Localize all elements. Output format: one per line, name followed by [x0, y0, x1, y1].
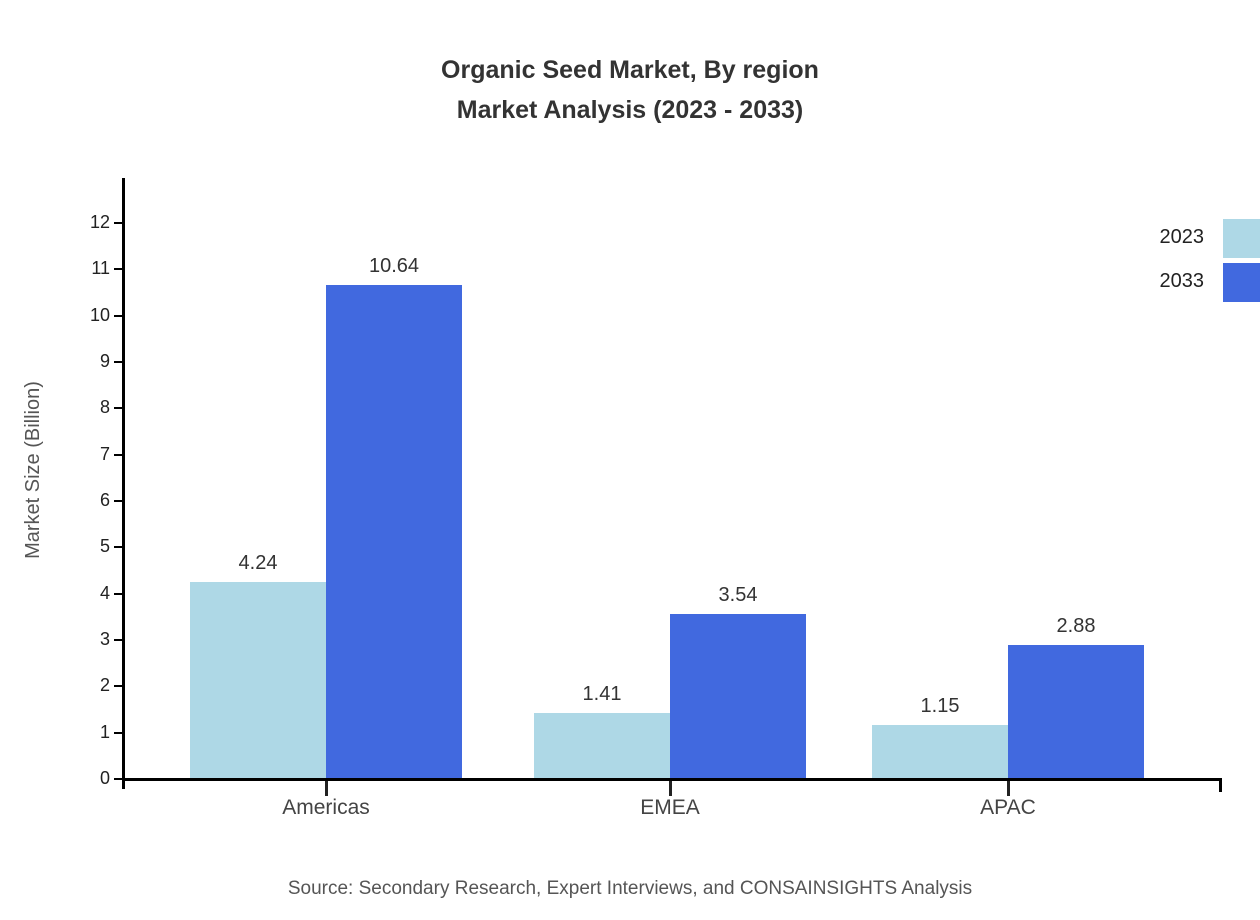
y-axis-tick: [114, 268, 122, 270]
bar-americas-2033[interactable]: [326, 285, 462, 778]
x-axis-label-apac: APAC: [898, 796, 1118, 820]
y-axis-tick-labels: 0123456789101112: [64, 178, 110, 781]
plot-area: 0123456789101112 4.2410.641.413.541.152.…: [122, 178, 1222, 781]
y-axis-tick-label: 3: [64, 630, 110, 648]
bar-americas-2023[interactable]: [190, 582, 326, 778]
x-axis-tick: [1007, 781, 1010, 796]
bar-emea-2033[interactable]: [670, 614, 806, 778]
legend-item-2033[interactable]: 2033: [1130, 262, 1260, 302]
bar-value-label: 10.64: [324, 255, 464, 278]
bar-value-label: 2.88: [1006, 615, 1146, 638]
y-axis-tick-label: 6: [64, 491, 110, 509]
y-axis-tick-label: 10: [64, 306, 110, 324]
y-axis-tick: [114, 593, 122, 595]
y-axis-tick-label: 9: [64, 352, 110, 370]
y-axis-tick: [114, 639, 122, 641]
chart-figure: Organic Seed Market, By region Market An…: [0, 0, 1260, 920]
legend-label: 2033: [1160, 270, 1205, 293]
x-axis-tick: [669, 781, 672, 796]
bar-value-label: 1.41: [532, 683, 672, 706]
chart-title: Organic Seed Market, By region Market An…: [0, 50, 1260, 130]
y-axis-tick-label: 1: [64, 723, 110, 741]
y-axis-title: Market Size (Billion): [22, 320, 45, 620]
y-axis-tick: [114, 407, 122, 409]
y-axis-tick: [114, 222, 122, 224]
bar-value-label: 1.15: [870, 695, 1010, 718]
y-axis-tick-label: 12: [64, 213, 110, 231]
chart-legend: 20232033: [1130, 218, 1260, 308]
y-axis-tick: [114, 315, 122, 317]
y-axis-tick-label: 11: [64, 259, 110, 277]
bar-value-label: 4.24: [188, 552, 328, 575]
bar-value-label: 3.54: [668, 584, 808, 607]
chart-title-line-1: Organic Seed Market, By region: [0, 50, 1260, 90]
y-axis-tick-label: 7: [64, 445, 110, 463]
legend-item-2023[interactable]: 2023: [1130, 218, 1260, 258]
bar-apac-2033[interactable]: [1008, 645, 1144, 778]
y-axis-tick-label: 0: [64, 769, 110, 787]
x-axis-tick: [325, 781, 328, 796]
legend-color-swatch: [1223, 263, 1260, 302]
bar-emea-2023[interactable]: [534, 713, 670, 778]
x-axis-label-americas: Americas: [216, 796, 436, 820]
y-axis-tick: [114, 685, 122, 687]
legend-color-swatch: [1223, 219, 1260, 258]
y-axis-tick: [114, 546, 122, 548]
x-axis-line: [122, 778, 1222, 781]
y-axis-tick: [114, 778, 122, 780]
y-axis-tick: [114, 732, 122, 734]
x-axis-endcap: [1219, 778, 1222, 792]
y-axis-tick: [114, 361, 122, 363]
y-axis-line: [122, 178, 125, 789]
bar-apac-2023[interactable]: [872, 725, 1008, 778]
source-note: Source: Secondary Research, Expert Inter…: [0, 878, 1260, 900]
y-axis-tick-label: 4: [64, 584, 110, 602]
y-axis-tick: [114, 454, 122, 456]
y-axis-tick-label: 5: [64, 537, 110, 555]
y-axis-tick: [114, 500, 122, 502]
chart-title-line-2: Market Analysis (2023 - 2033): [0, 90, 1260, 130]
legend-label: 2023: [1160, 226, 1205, 249]
y-axis-tick-label: 8: [64, 398, 110, 416]
y-axis-tick-label: 2: [64, 676, 110, 694]
x-axis-label-emea: EMEA: [560, 796, 780, 820]
